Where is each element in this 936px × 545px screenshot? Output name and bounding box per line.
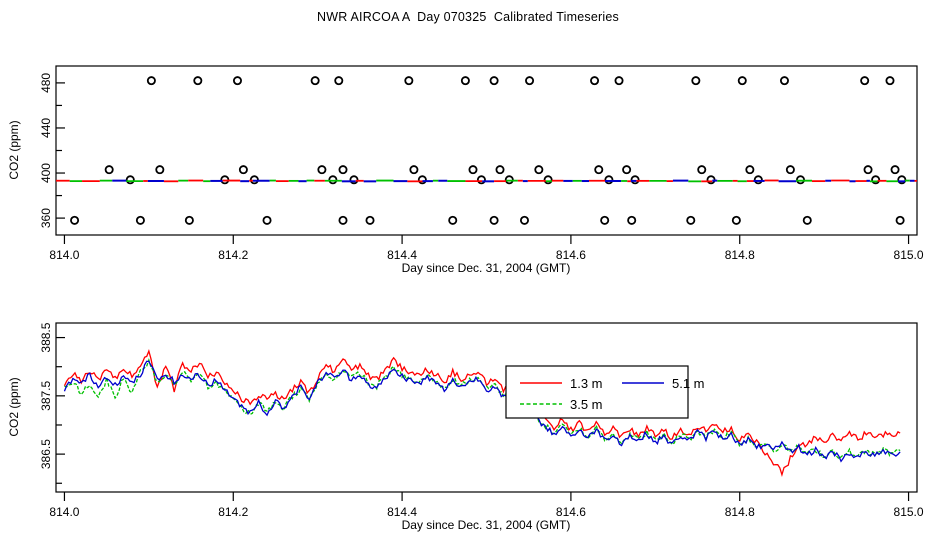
top-x-axis-ticks: 814.0814.2814.4814.6814.8815.0 xyxy=(49,235,923,262)
figure-title: NWR AIRCOA A Day 070325 Calibrated Times… xyxy=(0,10,936,24)
calibration-marker xyxy=(615,77,622,84)
x-tick-label: 814.0 xyxy=(49,505,79,519)
x-tick-label: 814.8 xyxy=(725,248,755,262)
legend-label-3-5m: 3.5 m xyxy=(570,397,603,412)
calibration-marker xyxy=(71,217,78,224)
calibration-marker xyxy=(755,176,762,183)
calibration-marker xyxy=(623,166,630,173)
y-tick-label: 400 xyxy=(39,163,53,183)
figure-canvas: NWR AIRCOA A Day 070325 Calibrated Times… xyxy=(0,0,936,540)
calibration-marker xyxy=(194,77,201,84)
calibration-marker xyxy=(106,166,113,173)
top-panel-frame xyxy=(56,66,917,235)
calibration-marker xyxy=(335,77,342,84)
calibration-marker xyxy=(148,77,155,84)
calibration-marker xyxy=(605,176,612,183)
calibration-marker xyxy=(739,77,746,84)
x-tick-label: 814.4 xyxy=(387,248,417,262)
calibration-marker xyxy=(631,176,638,183)
calibration-marker xyxy=(240,166,247,173)
bottom-series-lines xyxy=(64,351,900,475)
calibration-marker xyxy=(897,217,904,224)
x-tick-label: 814.8 xyxy=(725,505,755,519)
x-tick-label: 815.0 xyxy=(894,248,924,262)
top-sample-trace xyxy=(56,180,917,181)
x-tick-label: 814.2 xyxy=(218,505,248,519)
calibration-marker xyxy=(886,77,893,84)
series-line-1-3-m xyxy=(64,351,900,475)
calibration-marker xyxy=(156,166,163,173)
x-tick-label: 814.4 xyxy=(387,505,417,519)
bottom-x-axis-ticks: 814.0814.2814.4814.6814.8815.0 xyxy=(49,492,923,519)
calibration-marker xyxy=(692,77,699,84)
calibration-marker xyxy=(234,77,241,84)
calibration-marker xyxy=(601,217,608,224)
bottom-panel: 386.5387.5388.5 814.0814.2814.4814.6814.… xyxy=(7,322,924,532)
top-panel: 360400440480 814.0814.2814.4814.6814.881… xyxy=(7,66,924,275)
calibration-marker xyxy=(366,217,373,224)
calibration-marker xyxy=(628,217,635,224)
calibration-marker xyxy=(526,77,533,84)
y-tick-label: 386.5 xyxy=(39,439,53,469)
calibration-marker xyxy=(687,217,694,224)
y-tick-label: 387.5 xyxy=(39,381,53,411)
calibration-marker xyxy=(595,166,602,173)
calibration-marker xyxy=(591,77,598,84)
calibration-marker xyxy=(781,77,788,84)
x-tick-label: 815.0 xyxy=(894,505,924,519)
calibration-marker xyxy=(462,77,469,84)
calibration-marker xyxy=(186,217,193,224)
legend-label-5-1m: 5.1 m xyxy=(672,376,705,391)
bottom-y-axis-label: CO2 (ppm) xyxy=(7,377,21,436)
plot-area: 360400440480 814.0814.2814.4814.6814.881… xyxy=(0,0,936,540)
calibration-marker xyxy=(410,166,417,173)
top-x-axis-label: Day since Dec. 31, 2004 (GMT) xyxy=(402,261,571,275)
x-tick-label: 814.2 xyxy=(218,248,248,262)
calibration-marker xyxy=(545,176,552,183)
calibration-marker xyxy=(521,217,528,224)
calibration-marker xyxy=(733,217,740,224)
top-y-axis-ticks: 360400440480 xyxy=(39,73,65,229)
y-tick-label: 388.5 xyxy=(39,322,53,352)
calibration-marker xyxy=(449,217,456,224)
top-y-axis-label: CO2 (ppm) xyxy=(7,120,21,179)
x-tick-label: 814.0 xyxy=(49,248,79,262)
top-marker-points xyxy=(71,77,905,224)
calibration-marker xyxy=(804,217,811,224)
calibration-marker xyxy=(329,176,336,183)
calibration-marker xyxy=(318,166,325,173)
calibration-marker xyxy=(872,176,879,183)
y-tick-label: 360 xyxy=(39,208,53,228)
legend-label-1-3m: 1.3 m xyxy=(570,376,603,391)
calibration-marker xyxy=(746,166,753,173)
calibration-marker xyxy=(787,166,794,173)
x-tick-label: 814.6 xyxy=(556,248,586,262)
calibration-marker xyxy=(490,217,497,224)
bottom-y-axis-ticks: 386.5387.5388.5 xyxy=(39,322,65,483)
series-legend[interactable]: 1.3 m 5.1 m 3.5 m xyxy=(506,366,705,418)
calibration-marker xyxy=(469,166,476,173)
calibration-marker xyxy=(535,166,542,173)
calibration-marker xyxy=(312,77,319,84)
calibration-marker xyxy=(339,217,346,224)
calibration-marker xyxy=(127,176,134,183)
x-tick-label: 814.6 xyxy=(556,505,586,519)
calibration-marker xyxy=(891,166,898,173)
calibration-marker xyxy=(419,176,426,183)
calibration-marker xyxy=(864,166,871,173)
bottom-panel-frame xyxy=(56,323,917,492)
calibration-marker xyxy=(861,77,868,84)
calibration-marker xyxy=(339,166,346,173)
calibration-marker xyxy=(137,217,144,224)
y-tick-label: 480 xyxy=(39,73,53,93)
calibration-marker xyxy=(405,77,412,84)
bottom-x-axis-label: Day since Dec. 31, 2004 (GMT) xyxy=(402,518,571,532)
calibration-marker xyxy=(496,166,503,173)
calibration-marker xyxy=(263,217,270,224)
calibration-marker xyxy=(698,166,705,173)
calibration-marker xyxy=(490,77,497,84)
y-tick-label: 440 xyxy=(39,118,53,138)
